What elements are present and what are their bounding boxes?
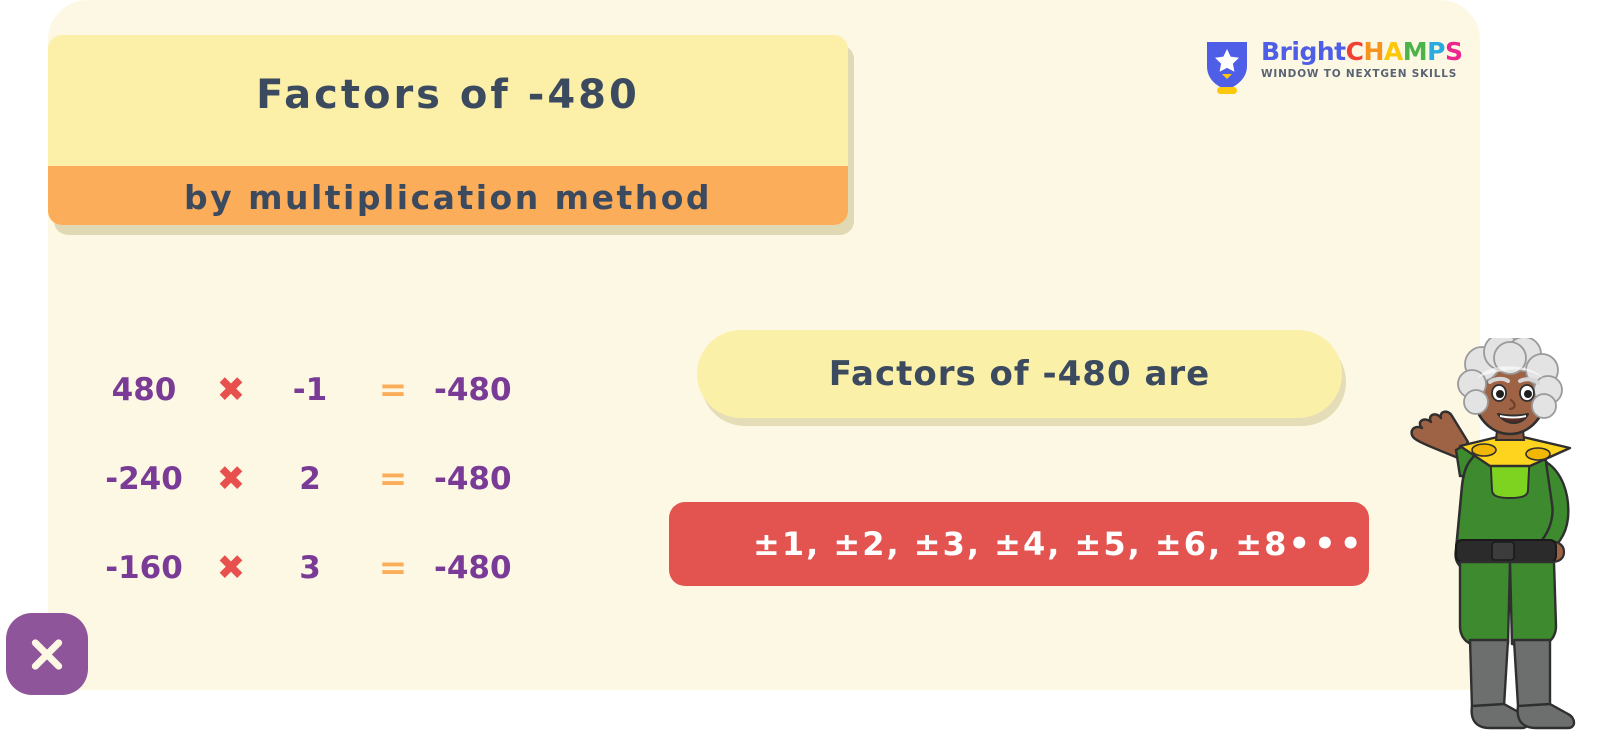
answer-factors-text: ±1, ±2, ±3, ±4, ±5, ±6, ±8 xyxy=(753,525,1288,563)
brand-letter-c-0: C xyxy=(1346,37,1364,66)
equals-icon: = xyxy=(358,548,428,588)
answer-ellipsis: ••• xyxy=(1288,524,1365,564)
equation-operand-b: 2 xyxy=(262,461,358,497)
answer-heading-pill: Factors of -480 are xyxy=(697,330,1342,418)
equation-row: -240✖2=-480 xyxy=(88,434,588,523)
equals-icon: = xyxy=(358,370,428,410)
brand-letter-h-1: H xyxy=(1363,37,1383,66)
equation-result: -480 xyxy=(428,372,564,408)
equation-operand-a: -160 xyxy=(88,550,200,586)
equation-result: -480 xyxy=(428,550,564,586)
subtitle-band: by multiplication method xyxy=(48,166,848,225)
close-button[interactable] xyxy=(6,613,88,695)
equation-row: 480✖-1=-480 xyxy=(88,345,588,434)
brand-letter-a-2: A xyxy=(1384,37,1403,66)
brand-tagline: WINDOW TO NEXTGEN SKILLS xyxy=(1261,68,1463,80)
brand-word-bright: Bright xyxy=(1261,37,1346,66)
equation-operand-b: 3 xyxy=(262,550,358,586)
multiply-icon: ✖ xyxy=(200,459,262,499)
page-subtitle: by multiplication method xyxy=(184,178,712,217)
equation-row: -160✖3=-480 xyxy=(88,523,588,612)
equation-operand-a: 480 xyxy=(88,372,200,408)
brand-letter-p-4: P xyxy=(1427,37,1445,66)
brand-letter-s-5: S xyxy=(1445,37,1463,66)
shield-star-icon xyxy=(1203,36,1251,94)
answer-bar: ±1, ±2, ±3, ±4, ±5, ±6, ±8 ••• xyxy=(669,502,1369,586)
answer-heading-text: Factors of -480 are xyxy=(829,354,1210,394)
brand-logo: BrightCHAMPS WINDOW TO NEXTGEN SKILLS xyxy=(1203,36,1458,94)
brand-letter-m-3: M xyxy=(1403,37,1427,66)
equation-operand-a: -240 xyxy=(88,461,200,497)
equals-icon: = xyxy=(358,459,428,499)
multiply-icon: ✖ xyxy=(200,548,262,588)
page-title: Factors of -480 xyxy=(48,35,848,138)
mentor-character-illustration xyxy=(1398,338,1600,740)
equation-operand-b: -1 xyxy=(262,372,358,408)
multiply-icon: ✖ xyxy=(200,370,262,410)
equation-result: -480 xyxy=(428,461,564,497)
brand-wordmark: BrightCHAMPS xyxy=(1261,39,1463,64)
brand-text: BrightCHAMPS WINDOW TO NEXTGEN SKILLS xyxy=(1261,36,1463,80)
equation-list: 480✖-1=-480-240✖2=-480-160✖3=-480 xyxy=(88,345,588,612)
title-block: Factors of -480 by multiplication method xyxy=(48,35,848,225)
